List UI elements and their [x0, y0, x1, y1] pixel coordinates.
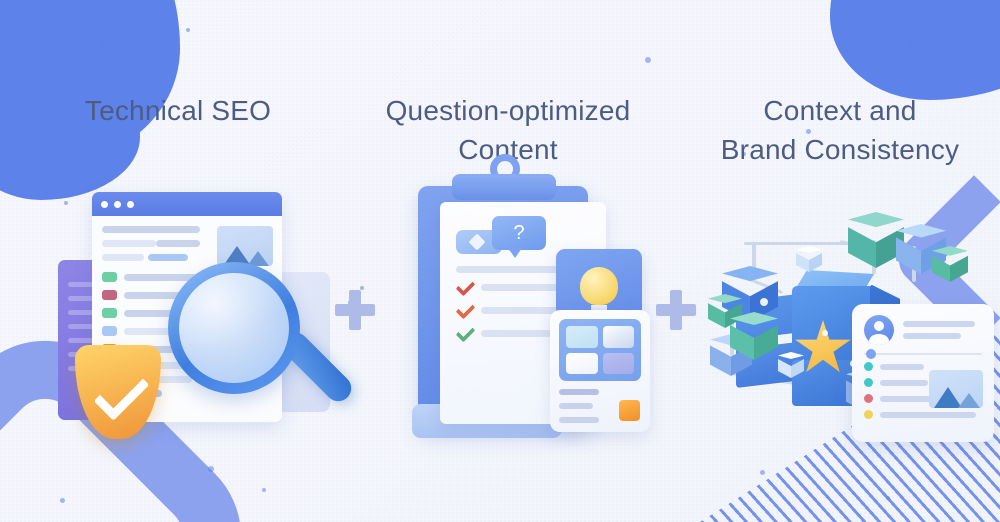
browser-dot	[114, 201, 121, 208]
plus-operator-2	[656, 290, 696, 330]
profile-card-icon	[852, 304, 994, 442]
decorative-dot	[760, 470, 765, 475]
small-cube	[778, 352, 804, 378]
clipboard-clip	[452, 174, 556, 200]
check-icon	[456, 326, 472, 340]
profile-header	[864, 315, 982, 345]
decorative-dot	[186, 28, 190, 32]
plus-operator-1	[335, 290, 375, 330]
small-cube	[730, 312, 778, 360]
browser-dot	[127, 201, 134, 208]
infographic-canvas: Technical SEO	[0, 0, 1000, 522]
decorative-dot	[60, 498, 65, 503]
status-chip	[102, 308, 117, 318]
status-dot	[864, 410, 873, 419]
lightbulb-icon	[580, 267, 618, 311]
decorative-dot	[208, 466, 214, 472]
profile-list-item	[864, 410, 982, 419]
decorative-dot	[645, 57, 651, 63]
decorative-dot	[908, 43, 913, 48]
decorative-dot	[886, 496, 890, 500]
grid-tile	[566, 353, 598, 375]
browser-content	[92, 216, 282, 261]
avatar	[864, 315, 894, 345]
title-line-1: Context and	[690, 92, 990, 131]
grid-tile	[603, 326, 635, 348]
small-cube	[796, 246, 822, 272]
grid-card-icon	[550, 310, 650, 432]
image-thumbnail-icon	[929, 370, 983, 408]
decorative-dot	[100, 40, 105, 45]
grid-panel	[559, 319, 641, 381]
grid-tile	[566, 326, 598, 348]
grid-tile	[603, 353, 635, 375]
magnifier-ring	[168, 262, 300, 394]
magnifier-lens	[179, 273, 289, 383]
sparkle	[822, 330, 828, 336]
status-dot	[864, 362, 873, 371]
browser-title-bar	[92, 192, 282, 216]
check-icon	[456, 303, 472, 317]
status-chip	[102, 272, 117, 282]
status-chip	[102, 290, 117, 300]
check-icon	[456, 280, 472, 294]
image-thumbnail-icon	[217, 226, 273, 266]
magnifier-icon	[168, 262, 300, 394]
status-dot	[864, 378, 873, 387]
title-line-1: Question-optimized	[358, 92, 658, 131]
question-bubble-icon: ?	[492, 216, 546, 250]
status-dot	[864, 394, 873, 403]
column-title-context-brand-consistency: Context and Brand Consistency	[690, 92, 990, 169]
small-cube	[932, 246, 968, 282]
orange-button[interactable]	[619, 400, 640, 421]
title-line-2: Brand Consistency	[690, 131, 990, 170]
decorative-dot	[28, 132, 34, 138]
bulb-glass	[580, 267, 618, 305]
divider	[864, 353, 982, 355]
decorative-dot	[262, 488, 266, 492]
sparkle	[760, 298, 768, 306]
browser-dot	[101, 201, 108, 208]
status-chip	[102, 326, 117, 336]
decorative-dot	[64, 201, 68, 205]
column-title-technical-seo: Technical SEO	[28, 92, 328, 131]
